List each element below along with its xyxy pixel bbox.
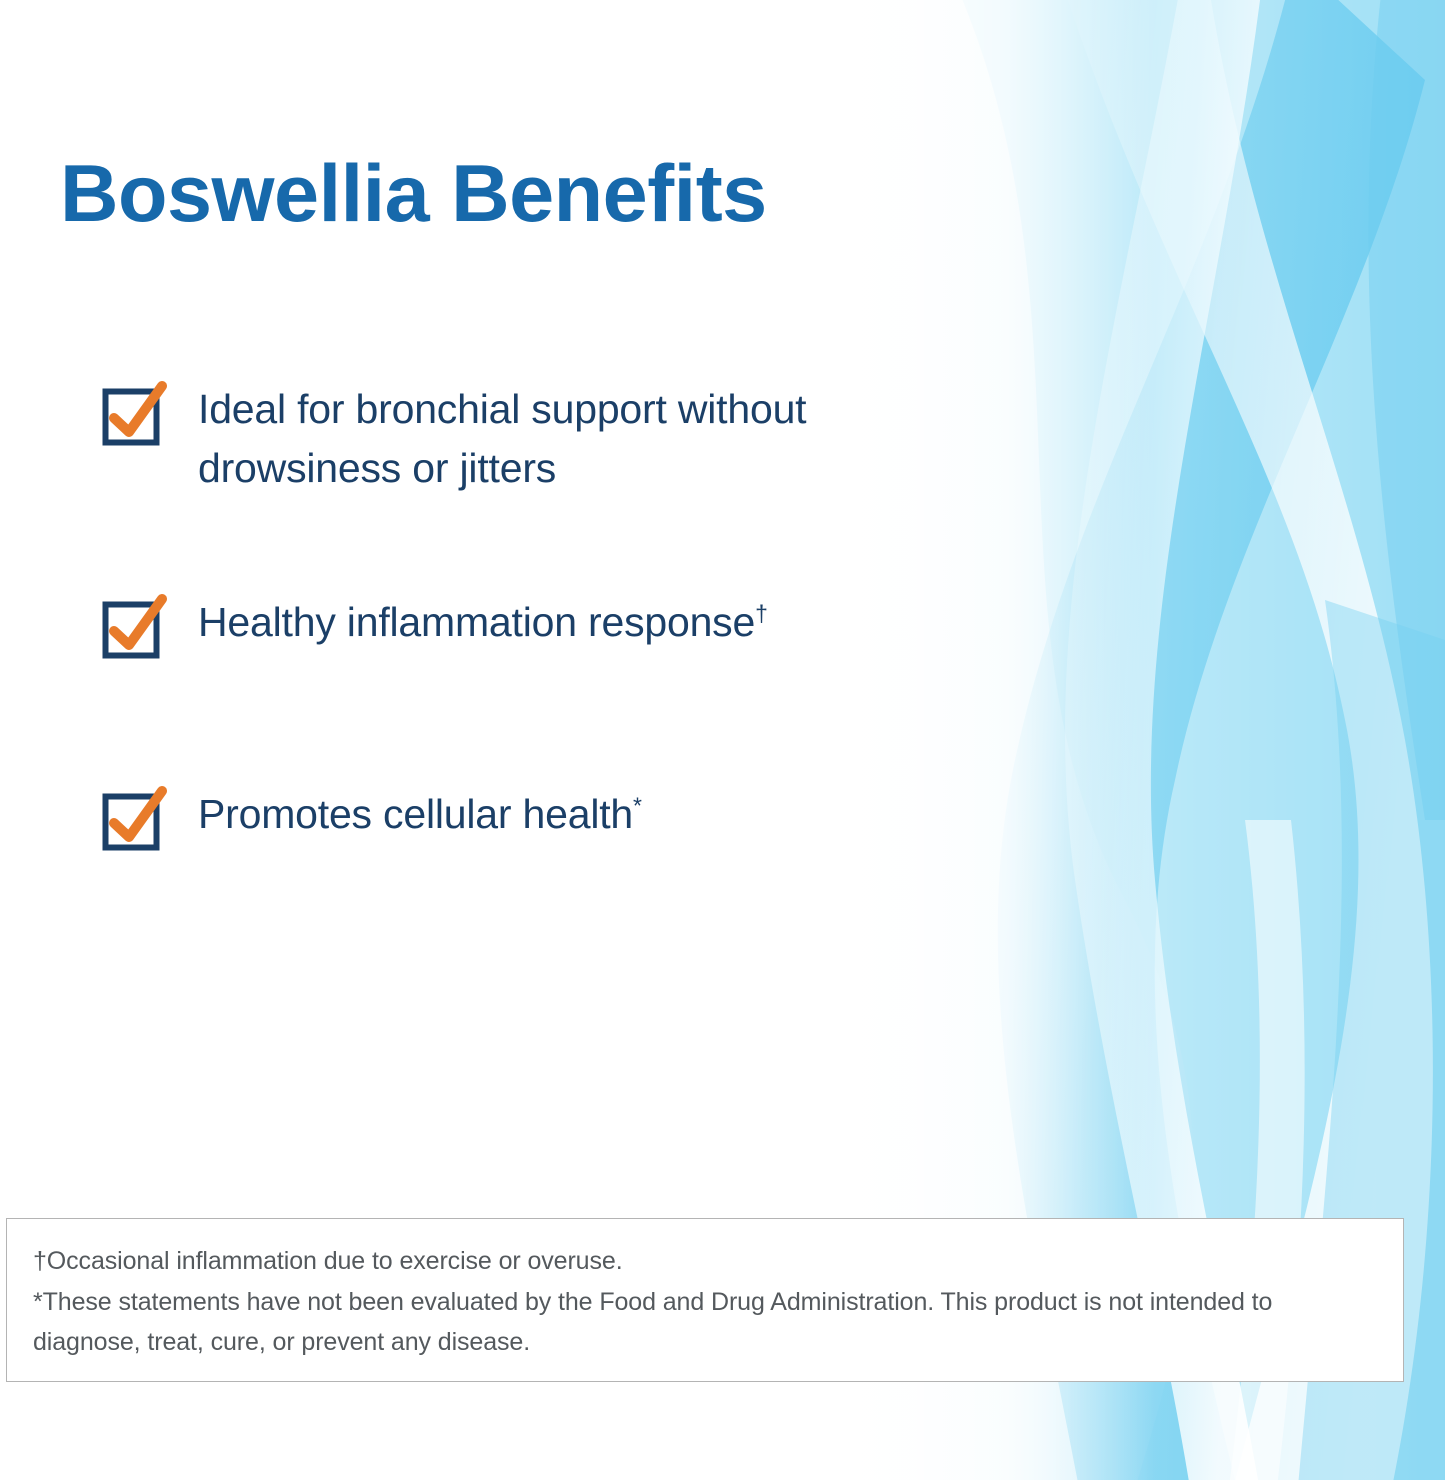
checked-checkbox-icon bbox=[100, 783, 172, 855]
list-item: Promotes cellular health* bbox=[100, 783, 900, 883]
page-title: Boswellia Benefits bbox=[60, 154, 767, 235]
list-item: Healthy inflammation response† bbox=[100, 591, 900, 691]
product-benefits-panel: Boswellia Benefits Ideal for bronchial s… bbox=[0, 0, 1445, 1480]
footnote-marker: * bbox=[633, 792, 642, 818]
benefits-list: Ideal for bronchial support without drow… bbox=[100, 378, 900, 883]
footnote-marker: † bbox=[755, 600, 768, 626]
list-item-label: Promotes cellular health* bbox=[198, 783, 900, 844]
list-item-label: Healthy inflammation response† bbox=[198, 591, 900, 652]
list-item: Ideal for bronchial support without drow… bbox=[100, 378, 900, 499]
disclaimer-line-asterisk: *These statements have not been evaluate… bbox=[33, 1282, 1377, 1363]
disclaimer-box: †Occasional inflammation due to exercise… bbox=[6, 1218, 1404, 1382]
checked-checkbox-icon bbox=[100, 591, 172, 663]
disclaimer-line-dagger: †Occasional inflammation due to exercise… bbox=[33, 1241, 1377, 1282]
checked-checkbox-icon bbox=[100, 378, 172, 450]
list-item-label: Ideal for bronchial support without drow… bbox=[198, 378, 900, 499]
